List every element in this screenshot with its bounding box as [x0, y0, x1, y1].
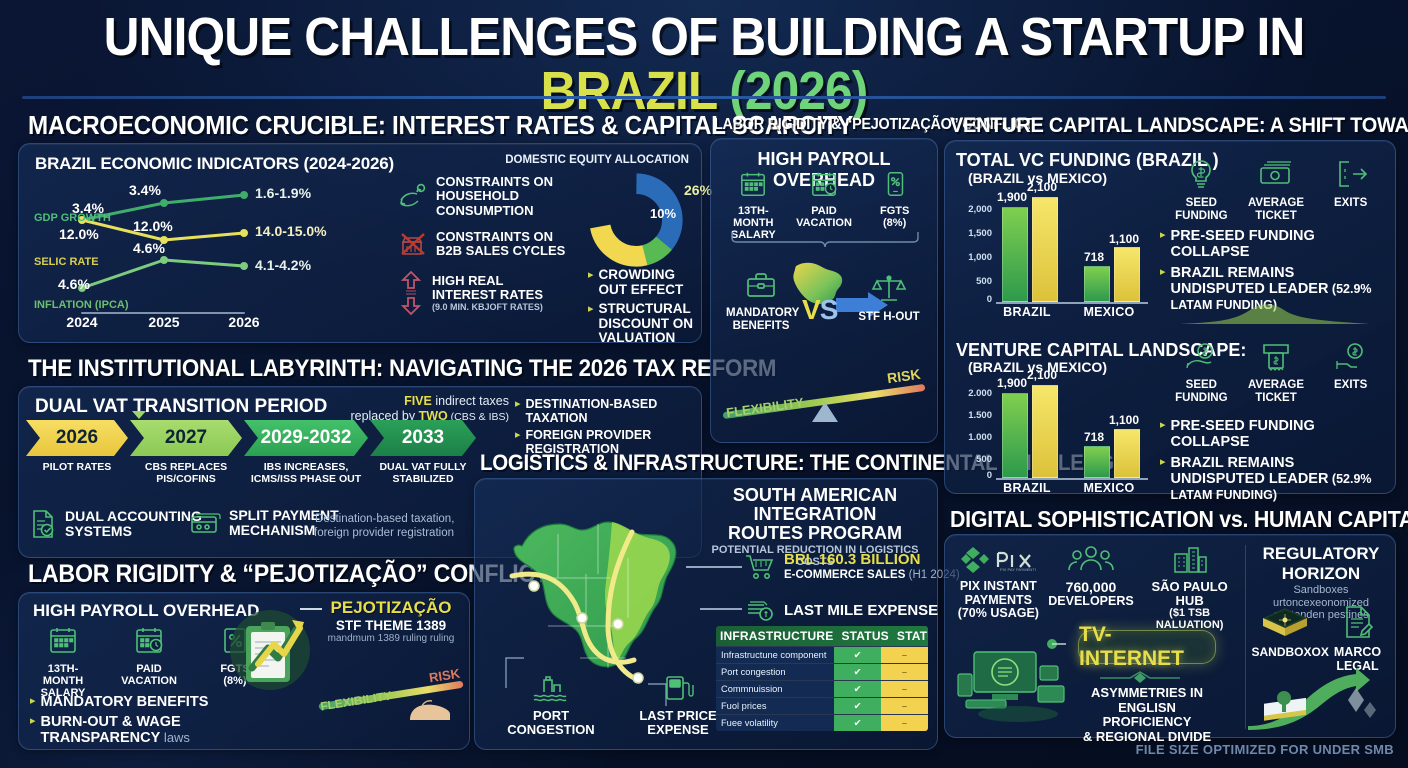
donut-label-26: 26% — [684, 182, 712, 198]
calendar-clock-icon — [809, 170, 839, 198]
briefcase-icon — [744, 270, 778, 300]
table-cell-name: Fuee volatility — [716, 715, 834, 731]
table-cell-status-2: – — [881, 698, 928, 714]
digital-sp-line1: SÃO PAULO HUB — [1140, 580, 1240, 608]
table-cell-status-1: ✔ — [834, 681, 881, 697]
payroll-mid-vacation-line2: VACATION — [791, 217, 857, 229]
vs-right-label: STF H-OUT — [852, 311, 926, 323]
barlabel2-mexico-yellow: 1,100 — [1108, 413, 1140, 427]
vc1-ticket-line1: AVERAGE — [1242, 197, 1310, 210]
logistics-callout-ecommerce: BRL 160.3 BILLION E-COMMERCE SALES (H1 2… — [744, 552, 960, 581]
ytick-0: 0 — [958, 294, 992, 305]
up-down-arrow-icon — [398, 270, 424, 316]
timeline-step-0-caption: PILOT RATES — [26, 461, 128, 473]
digital-caption-line2: ENGLISN PROFICIENCY — [1072, 701, 1222, 730]
bar2-mexico-yellow — [1114, 429, 1140, 478]
brace-icon — [730, 232, 920, 248]
phone-percent-icon — [880, 170, 910, 198]
vc2-exits-line1: EXITS — [1317, 379, 1385, 392]
banknotes-icon — [1258, 158, 1294, 190]
tv-internet-badge[interactable]: TV-INTERNET — [1078, 630, 1216, 664]
table-row: Commnuission ✔ – — [716, 680, 928, 697]
svg-text:PIX PAY PAYMENTS: PIX PAY PAYMENTS — [1000, 567, 1036, 572]
pejotizacao-callout: PEJOTIZAÇÃO STF THEME 1389 mandmum 1389 … — [318, 598, 464, 644]
table-header-infrastructure: INFRASTRUCTURE — [716, 626, 837, 646]
legend-selic-rate: SELIC RATE — [34, 256, 99, 268]
callout-connector-2 — [700, 608, 742, 610]
labor-left-bullets: ▸ MANDATORY BENEFITS ▸ BURN-OUT & WAGE T… — [30, 694, 280, 746]
donut-title: DOMESTIC EQUITY ALLOCATION — [505, 154, 689, 166]
table-row: Fuee volatility ✔ – — [716, 714, 928, 731]
vc2-seed-funding: SEED FUNDING — [1167, 342, 1235, 404]
barcat2-mexico: MEXICO — [1078, 481, 1140, 495]
vc2-bullet-1: ▸ BRAZIL REMAINS UNDISPUTED LEADER (52.9… — [1160, 455, 1390, 504]
ytick-1000: 1,000 — [958, 252, 992, 263]
bar-axis-line-2 — [996, 478, 1148, 480]
labor-mid-vs-block: MANDATORY BENEFITS VS STF H-OUT — [718, 258, 930, 358]
timeline-step-2-caption: IBS INCREASES, ICMS/ISS PHASE OUT — [244, 461, 368, 485]
timeline-marker-triangle — [26, 408, 34, 416]
table-header-status-1: STATUS — [837, 626, 892, 646]
fuel-icon — [661, 672, 695, 702]
constraint-household: CONSTRAINTS ON HOUSEHOLD CONSUMPTION — [398, 175, 578, 218]
barlabel2-brazil-yellow: 2,100 — [1026, 368, 1058, 382]
table-cell-status-2: – — [881, 647, 928, 663]
logistics-lastmile-value: LAST MILE EXPENSE — [784, 602, 938, 619]
constraint-household-line1: CONSTRAINTS ON — [436, 175, 578, 189]
timeline-step-3-year: 2033 — [370, 420, 476, 456]
tax-subtitle: DUAL VAT TRANSITION PERIOD — [35, 396, 327, 418]
section-heading-labor-left: LABOR RIGIDITY & “PEJOTIZAÇÃO” CONFLICT — [28, 562, 549, 587]
table-header-status-2: STATUS — [893, 626, 928, 646]
digital-dev-line2: DEVELOPERS — [1047, 595, 1135, 609]
macro-bullet-0: ▸ CROWDING OUT EFFECT — [588, 268, 700, 298]
barcat-brazil: BRAZIL — [996, 305, 1058, 319]
datalabel-inflation-2024: 4.6% — [58, 276, 90, 292]
regulatory-sandbox-label: SANDBOXOX — [1252, 646, 1318, 659]
page-title: UNIQUE CHALLENGES OF BUILDING A STARTUP … — [0, 10, 1408, 118]
vc2-bullet-1-label: BRAZIL REMAINS UNDISPUTED LEADER — [1171, 455, 1329, 487]
map-label-port: PORT CONGESTION — [505, 672, 597, 738]
xtick-2024: 2024 — [60, 314, 104, 330]
infrastructure-status-table: INFRASTRUCTURE STATUS STATUS Infrastruct… — [716, 626, 928, 731]
barlabel2-mexico-green: 718 — [1078, 430, 1110, 444]
callout-connector-line — [300, 608, 322, 610]
datalabel-inflation-2025: 4.6% — [133, 240, 165, 256]
bar-mexico-yellow — [1114, 247, 1140, 302]
vc2-ticket-line1: AVERAGE — [1242, 379, 1310, 392]
constraint-interest-line1: HIGH REAL — [432, 274, 543, 288]
table-cell-status-2: – — [881, 664, 928, 680]
map-label-port-line1: PORT — [505, 709, 597, 723]
table-cell-status-1: ✔ — [834, 647, 881, 663]
timeline-step-1-caption: CBS REPLACES PIS/COFINS — [130, 461, 242, 485]
table-cell-status-1: ✔ — [834, 698, 881, 714]
payroll-item-vacation-line1: PAID — [114, 663, 184, 675]
vc1-bullet-0: ▸ PRE-SEED FUNDING COLLAPSE — [1160, 228, 1388, 260]
calendar-icon — [47, 625, 79, 655]
xtick-2026: 2026 — [222, 314, 266, 330]
atm-receipt-icon — [1260, 342, 1292, 372]
constraint-household-line2: HOUSEHOLD CONSUMPTION — [436, 189, 578, 218]
sandbox-icon — [1259, 604, 1311, 640]
vc2-average-ticket: AVERAGE TICKET — [1242, 342, 1310, 404]
bullet-triangle-icon: ▸ — [1160, 418, 1166, 433]
constraint-interest-rates: HIGH REAL INTEREST RATES (9.0 MIN. KBJOF… — [398, 270, 578, 316]
table-row: Infrastructune component ✔ – — [716, 646, 928, 663]
labor-left-bullet-0-label: MANDATORY BENEFITS — [41, 694, 209, 710]
tax-bullet-0: ▸ DESTINATION-BASED TAXATION — [515, 397, 695, 425]
green-glow-shape — [1180, 296, 1370, 324]
datalabel-gdp-2025: 3.4% — [129, 182, 161, 198]
payroll-item-13th: 13TH-MONTH SALARY — [28, 625, 98, 699]
regulatory-item-sandbox: SANDBOXOX — [1252, 604, 1318, 673]
datalabel-gdp-2024: 3.4% — [72, 200, 104, 216]
tax-note-a: indirect taxes — [432, 394, 509, 408]
payroll-mid-13th: 13TH-MONTH SALARY — [720, 170, 786, 241]
hand-dollar-icon — [1185, 342, 1217, 372]
table-cell-status-2: – — [881, 715, 928, 731]
title-part-main: UNIQUE CHALLENGES OF BUILDING A STARTUP … — [104, 7, 1305, 67]
timeline-step-2-year: 2029-2032 — [244, 420, 368, 456]
regulatory-items: SANDBOXOX MARCO LEGAL — [1248, 604, 1394, 673]
tax-footer-0-line2: SYSTEMS — [65, 524, 202, 539]
table-row: Port congestion ✔ – — [716, 663, 928, 680]
payroll-mid-vacation-line1: PAID — [791, 205, 857, 217]
logistics-ecommerce-label: E-COMMERCE SALES — [784, 569, 905, 581]
vc1-exits-line1: EXITS — [1317, 197, 1385, 210]
vc-panel2-icons: SEED FUNDING AVERAGE TICKET EXITS — [1164, 342, 1388, 404]
table-cell-status-1: ✔ — [834, 664, 881, 680]
vc1-average-ticket: AVERAGE TICKET — [1242, 158, 1310, 222]
table-cell-name: Commnuission — [716, 681, 834, 697]
payroll-item-vacation: PAID VACATION — [114, 625, 184, 699]
pejotizacao-sub: STF THEME 1389 — [318, 618, 464, 633]
seesaw-mid-left-label: FLEXIBILITY — [725, 395, 804, 421]
labor-left-bullet-1: ▸ BURN-OUT & WAGE TRANSPARENCY laws — [30, 714, 280, 746]
constraint-interest-note: (9.0 MIN. KBJOFT RATES) — [432, 303, 543, 313]
section-heading-digital: DIGITAL SOPHISTICATION vs. HUMAN CAPITAL… — [950, 508, 1408, 531]
section-heading-vc: VENTURE CAPITAL LANDSCAPE: A SHIFT TOWAR… — [950, 115, 1408, 137]
table-cell-status-2: – — [881, 681, 928, 697]
tax-footer-note-line1: · Destination-based taxation, — [308, 512, 454, 526]
table-cell-name: Infrastructune component — [716, 647, 834, 663]
timeline-step-1-year: 2027 — [130, 420, 242, 456]
bar-brazil-green — [1002, 207, 1028, 302]
ytick2-2000: 2.000 — [958, 388, 992, 399]
chart-domestic-equity-allocation: 26% 10% — [588, 172, 684, 268]
tax-bullet-0-label: DESTINATION-BASED TAXATION — [526, 397, 695, 425]
legend-inflation: INFLATION (IPCA) — [34, 299, 129, 311]
macro-bullets: ▸ CROWDING OUT EFFECT ▸ STRUCTURAL DISCO… — [588, 268, 700, 346]
digital-pix-line1: PIX INSTANT — [954, 580, 1042, 594]
ytick-500: 500 — [958, 276, 992, 287]
barcat2-brazil: BRAZIL — [996, 481, 1058, 495]
map-label-port-line2: CONGESTION — [505, 723, 597, 737]
ytick-1500: 1,500 — [958, 228, 992, 239]
tax-footer-note: · Destination-based taxation, foreign pr… — [308, 512, 454, 541]
vs-right: STF H-OUT — [852, 272, 926, 323]
seesaw-mid-right-label: RISK — [886, 366, 921, 387]
timeline-step-0-year: 2026 — [26, 420, 128, 456]
bulb-dollar-icon — [1185, 158, 1217, 190]
ytick-2000: 2,000 — [958, 204, 992, 215]
hand-icon — [404, 696, 462, 722]
bullet-triangle-icon: ▸ — [1160, 265, 1166, 280]
tax-footer-0-line1: DUAL ACCOUNTING — [65, 509, 202, 524]
ytick2-1000: 1.000 — [958, 432, 992, 443]
pejotizacao-fine: mandmum 1389 ruling ruling — [318, 633, 464, 644]
labor-left-bullet-1-tail: laws — [160, 730, 190, 745]
datalabel-selic-2025: 12.0% — [133, 218, 173, 234]
xtick-2025: 2025 — [142, 314, 186, 330]
payroll-mid-13th-line1: 13TH-MONTH — [720, 205, 786, 229]
calendar-clock-icon — [133, 625, 165, 655]
clipboard-growth-svg — [218, 598, 326, 696]
cart-icon — [744, 553, 776, 581]
macro-bullet-1-label: STRUCTURAL DISCOUNT ON VALUATION — [599, 302, 700, 347]
bullet-triangle-icon: ▸ — [588, 268, 594, 283]
vc2-seed-line2: FUNDING — [1167, 392, 1235, 405]
vc1-seed-line2: FUNDING — [1167, 210, 1235, 223]
logistics-program-line1: SOUTH AMERICAN INTEGRATION — [700, 486, 930, 524]
growth-arrow-illustration — [1248, 668, 1394, 732]
constraint-b2b-line1: CONSTRAINTS ON — [436, 230, 565, 244]
callout-connector-1 — [686, 566, 742, 568]
b2b-blocked-icon — [398, 230, 428, 258]
seesaw-pivot-icon — [812, 402, 838, 422]
bar-axis-line — [996, 302, 1148, 304]
timeline-current-marker-icon — [132, 411, 146, 419]
chart-economic-indicators: GDP GROWTH SELIC RATE INFLATION (IPCA) 3… — [34, 178, 394, 330]
ytick2-1500: 1.500 — [958, 410, 992, 421]
vc-panel2-bullets: ▸ PRE-SEED FUNDING COLLAPSE ▸ BRAZIL REM… — [1160, 418, 1390, 504]
labor-left-bullet-0: ▸ MANDATORY BENEFITS — [30, 694, 280, 710]
legal-doc-icon — [1341, 604, 1375, 640]
constraint-b2b-line2: B2B SALES CYCLES — [436, 244, 565, 258]
macro-constraints-list: CONSTRAINTS ON HOUSEHOLD CONSUMPTION CON… — [398, 175, 578, 316]
datalabel-gdp-2026: 1.6-1.9% — [255, 185, 311, 201]
vc1-exits: EXITS — [1317, 158, 1385, 222]
digital-item-saopaulo: SÃO PAULO HUB ($1 TSB NALUATION) — [1140, 544, 1240, 632]
tax-footer-item-0: DUAL ACCOUNTING SYSTEMS — [28, 508, 202, 540]
vc-panel1-icons: SEED FUNDING AVERAGE TICKET EXITS — [1164, 158, 1388, 222]
hand-coin-icon — [1335, 342, 1367, 372]
coins-icon — [744, 596, 776, 624]
regulatory-title: REGULATORY HORIZON — [1248, 544, 1394, 584]
vc2-exits: EXITS — [1317, 342, 1385, 404]
barlabel-brazil-yellow: 2,100 — [1026, 180, 1058, 194]
table-cell-name: Fuol prices — [716, 698, 834, 714]
barlabel-brazil-green: 1,900 — [996, 190, 1028, 204]
bar2-brazil-yellow — [1032, 385, 1058, 478]
table-cell-status-1: ✔ — [834, 715, 881, 731]
tax-timeline: 2026 PILOT RATES 2027 CBS REPLACES PIS/C… — [26, 420, 476, 485]
digital-dev-line1: 760,000 — [1047, 580, 1135, 595]
bullet-triangle-icon: ▸ — [515, 397, 521, 412]
constraint-b2b: CONSTRAINTS ON B2B SALES CYCLES — [398, 230, 578, 259]
vc2-seed-line1: SEED — [1167, 379, 1235, 392]
vs-badge: VS — [802, 294, 837, 326]
seesaw-flexibility-risk-mid: FLEXIBILITY RISK — [722, 372, 926, 428]
bullet-triangle-icon: ▸ — [515, 428, 521, 443]
port-icon — [532, 672, 570, 702]
seesaw-flexibility-risk-left: FLEXIBILITY RISK — [318, 672, 464, 716]
tax-footer-note-line2: foreign provider registration — [308, 526, 454, 540]
chart-total-vc-funding: 2,000 1,500 1,000 500 0 1,900 2,100 718 … — [958, 192, 1158, 318]
section-heading-tax: THE INSTITUTIONAL LABYRINTH: NAVIGATING … — [28, 357, 776, 381]
scales-icon — [871, 272, 907, 304]
macro-bullet-1: ▸ STRUCTURAL DISCOUNT ON VALUATION — [588, 302, 700, 347]
datalabel-inflation-2026: 4.1-4.2% — [255, 257, 311, 273]
chart-title-economic-indicators: BRAZIL ECONOMIC INDICATORS (2024-2026) — [35, 154, 394, 174]
exit-door-icon — [1335, 158, 1367, 190]
barcat-mexico: MEXICO — [1078, 305, 1140, 319]
timeline-step-3-caption: DUAL VAT FULLY STABILIZED — [370, 461, 476, 485]
vc1-bullet-0-label: PRE-SEED FUNDING COLLAPSE — [1171, 228, 1388, 260]
pix-icon: PIX PAY PAYMENTS — [960, 544, 1036, 574]
footer-note: FILE SIZE OPTIMIZED FOR UNDER SMB — [1136, 742, 1394, 757]
bar-mexico-green — [1084, 266, 1110, 302]
divider-diamond-icon — [1100, 670, 1180, 686]
money-down-icon — [398, 182, 428, 210]
digital-caption-line1: ASYMMETRIES IN — [1072, 686, 1222, 701]
bullet-triangle-icon: ▸ — [1160, 455, 1166, 470]
barlabel-mexico-yellow: 1,100 — [1108, 232, 1140, 246]
bullet-triangle-icon: ▸ — [1160, 228, 1166, 243]
tax-note-five: FIVE — [404, 394, 432, 408]
timeline-step-1[interactable]: 2027 CBS REPLACES PIS/COFINS — [130, 420, 242, 485]
payroll-mid-vacation: PAID VACATION — [791, 170, 857, 241]
digital-caption: ASYMMETRIES IN ENGLISN PROFICIENCY & REG… — [1072, 686, 1222, 744]
logistics-callout-lastmile: LAST MILE EXPENSE — [744, 596, 938, 624]
vc2-bullet-0: ▸ PRE-SEED FUNDING COLLAPSE — [1160, 418, 1390, 450]
chart-vc-landscape-2: 2.000 1.500 1.000 500 0 1,900 2,100 718 … — [958, 380, 1158, 492]
bullet-triangle-icon: ▸ — [30, 694, 36, 709]
datalabel-selic-2026: 14.0-15.0% — [255, 223, 327, 239]
seesaw-left-label: FLEXIBILITY — [319, 688, 392, 713]
timeline-step-3[interactable]: 2033 DUAL VAT FULLY STABILIZED — [370, 420, 476, 485]
regulatory-item-marcolegal: MARCO LEGAL — [1325, 604, 1391, 673]
table-header-row: INFRASTRUCTURE STATUS STATUS — [716, 626, 928, 646]
macro-bullet-0-label: CROWDING OUT EFFECT — [599, 268, 700, 298]
vc1-seed-line1: SEED — [1167, 197, 1235, 210]
table-cell-name: Port congestion — [716, 664, 834, 680]
datalabel-selic-2024: 12.0% — [59, 226, 99, 242]
barlabel2-brazil-green: 1,900 — [996, 376, 1028, 390]
workstation-illustration — [952, 618, 1082, 730]
payroll-item-vacation-line2: VACATION — [114, 675, 184, 687]
payroll-mid-fgts: FGTS (8%) — [862, 170, 928, 241]
vc1-seed-funding: SEED FUNDING — [1167, 158, 1235, 222]
vc2-bullet-0-label: PRE-SEED FUNDING COLLAPSE — [1171, 418, 1390, 450]
tax-bullets: ▸ DESTINATION-BASED TAXATION ▸ FOREIGN P… — [515, 397, 695, 456]
tv-internet-label: TV-INTERNET — [1079, 623, 1215, 671]
people-icon — [1068, 544, 1114, 574]
table-row: Fuol prices ✔ – — [716, 697, 928, 714]
logistics-ecommerce-value: BRL 160.3 BILLION — [784, 552, 960, 569]
bar2-mexico-green — [1084, 446, 1110, 478]
digital-pix-line2: PAYMENTS — [954, 594, 1042, 608]
clipboard-growth-illustration — [218, 598, 326, 696]
bar2-brazil-green — [1002, 393, 1028, 478]
panel-divider — [1245, 545, 1246, 729]
ytick2-0: 0 — [958, 470, 992, 481]
buildings-icon — [1170, 544, 1210, 574]
cards-icon — [188, 508, 222, 538]
vc1-ticket-line2: TICKET — [1242, 210, 1310, 223]
regulatory-marco-line1: MARCO — [1325, 646, 1391, 660]
barlabel-mexico-green: 718 — [1078, 250, 1110, 264]
donut-label-10: 10% — [650, 206, 676, 221]
payroll-mid-fgts-line1: FGTS — [862, 205, 928, 217]
bullet-triangle-icon: ▸ — [588, 302, 594, 317]
timeline-step-2[interactable]: 2029-2032 IBS INCREASES, ICMS/ISS PHASE … — [244, 420, 368, 485]
constraint-interest-line2: INTEREST RATES — [432, 288, 543, 302]
map-label-fuel-line1: LAST PRICE — [632, 709, 724, 723]
document-check-icon — [28, 508, 58, 540]
payroll-mid-fgts-line2: (8%) — [862, 217, 928, 229]
labor-mid-items: 13TH-MONTH SALARY PAID VACATION FGTS — [718, 170, 930, 241]
pejotizacao-title: PEJOTIZAÇÃO — [318, 598, 464, 618]
vc2-ticket-line2: TICKET — [1242, 392, 1310, 405]
bullet-triangle-icon: ▸ — [30, 714, 36, 729]
vc1-bullet-1-label: BRAZIL REMAINS UNDISPUTED LEADER — [1171, 265, 1329, 297]
map-label-fuel: LAST PRICE EXPENSE — [632, 672, 724, 738]
title-divider — [22, 96, 1386, 99]
timeline-step-0[interactable]: 2026 PILOT RATES — [26, 420, 128, 485]
ytick2-500: 500 — [958, 454, 992, 465]
bar-brazil-yellow — [1032, 197, 1058, 302]
map-label-fuel-line2: EXPENSE — [632, 723, 724, 737]
payroll-item-13th-line1: 13TH-MONTH — [28, 663, 98, 687]
logistics-program-line2: ROUTES PROGRAM — [700, 524, 930, 543]
calendar-icon — [738, 170, 768, 198]
